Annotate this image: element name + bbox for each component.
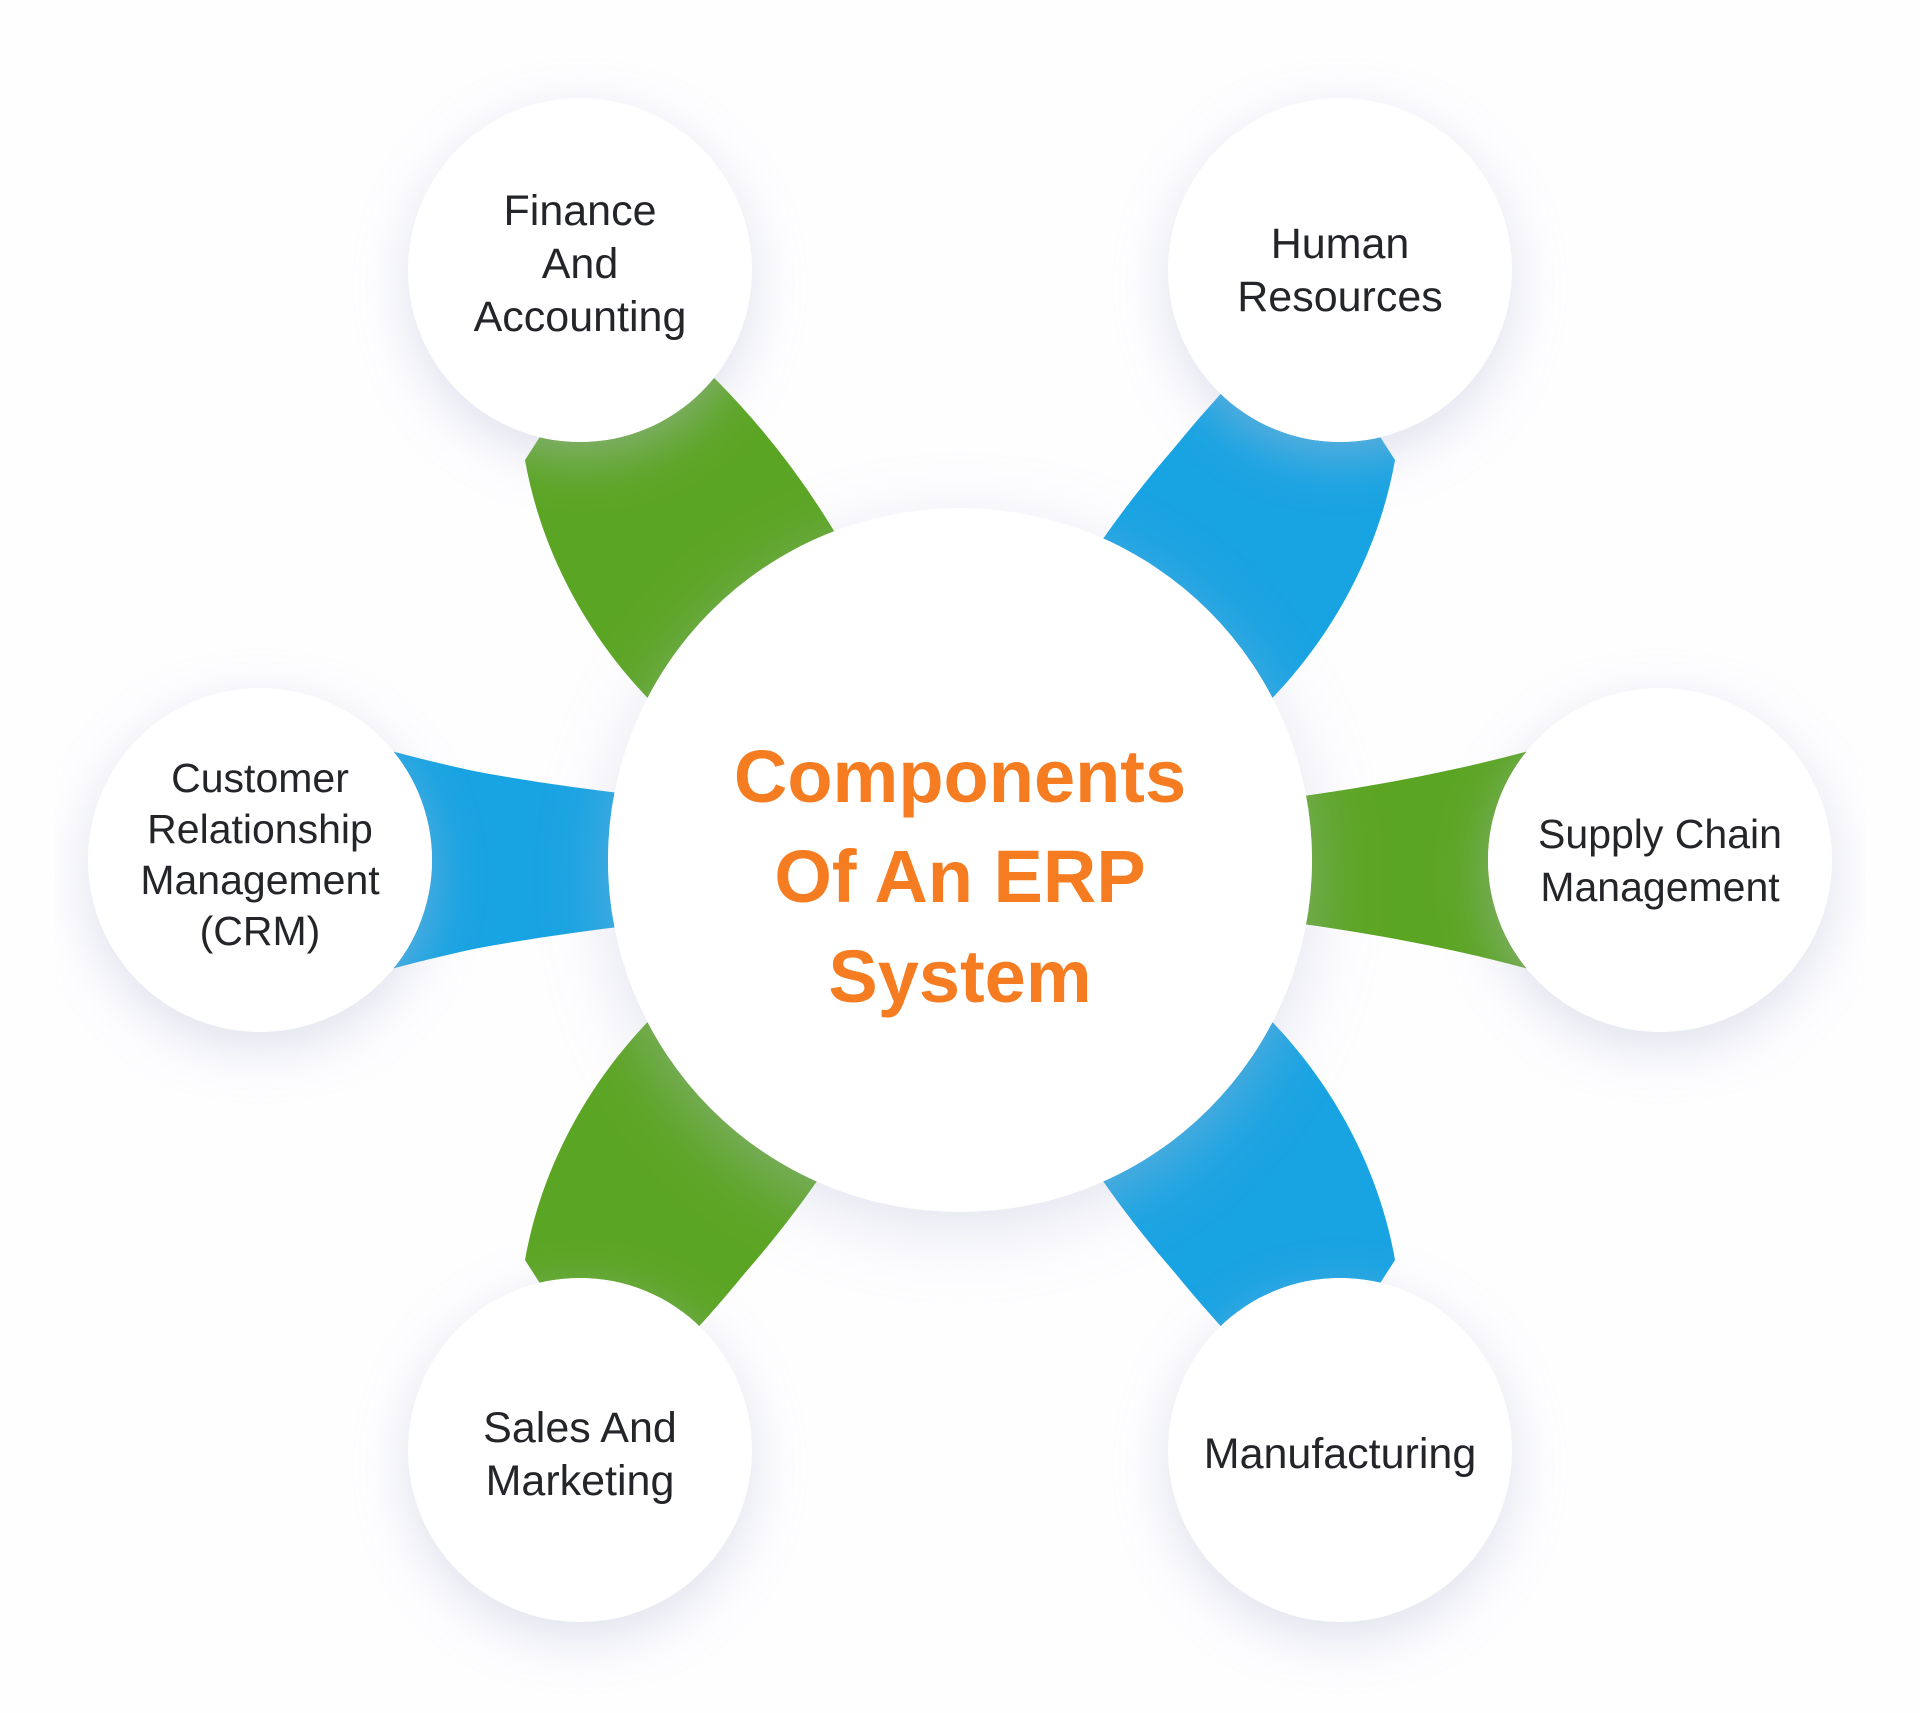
node-label-line-1: Customer: [171, 755, 349, 801]
node-label-line-2: And: [542, 240, 619, 288]
node-label-line-1: Supply Chain: [1538, 811, 1782, 857]
diagram-canvas: Excellence through integrity: [0, 0, 1920, 1713]
node-label-line-1: Finance: [504, 187, 657, 235]
node-label-line-2: Marketing: [486, 1457, 675, 1505]
node-supply-chain-management[interactable]: Supply Chain Management: [1488, 688, 1832, 1032]
erp-components-diagram: Components Of An ERP System Finance And …: [55, 20, 1865, 1700]
center-title-line-3: System: [828, 935, 1091, 1018]
node-customer-relationship-management[interactable]: Customer Relationship Management (CRM): [88, 688, 432, 1032]
node-human-resources[interactable]: Human Resources: [1168, 98, 1512, 442]
node-manufacturing[interactable]: Manufacturing: [1168, 1278, 1512, 1622]
node-label-line-1: Human: [1271, 220, 1410, 268]
node-label-line-4: (CRM): [200, 908, 321, 954]
center-hub: Components Of An ERP System: [608, 508, 1312, 1212]
node-sales-and-marketing[interactable]: Sales And Marketing: [408, 1278, 752, 1622]
node-label-line-3: Accounting: [474, 293, 687, 341]
node-label-line-2: Relationship: [147, 806, 373, 852]
node-finance-and-accounting[interactable]: Finance And Accounting: [408, 98, 752, 442]
node-label-line-1: Manufacturing: [1204, 1430, 1477, 1478]
center-title-line-1: Components: [734, 735, 1186, 818]
node-label-line-2: Resources: [1237, 273, 1443, 321]
node-label-line-3: Management: [140, 857, 380, 903]
node-label-line-1: Sales And: [483, 1404, 677, 1452]
node-circle[interactable]: [1168, 98, 1512, 442]
node-label-line-2: Management: [1540, 864, 1780, 910]
center-title-line-2: Of An ERP: [774, 835, 1145, 918]
node-circle[interactable]: [1488, 688, 1832, 1032]
